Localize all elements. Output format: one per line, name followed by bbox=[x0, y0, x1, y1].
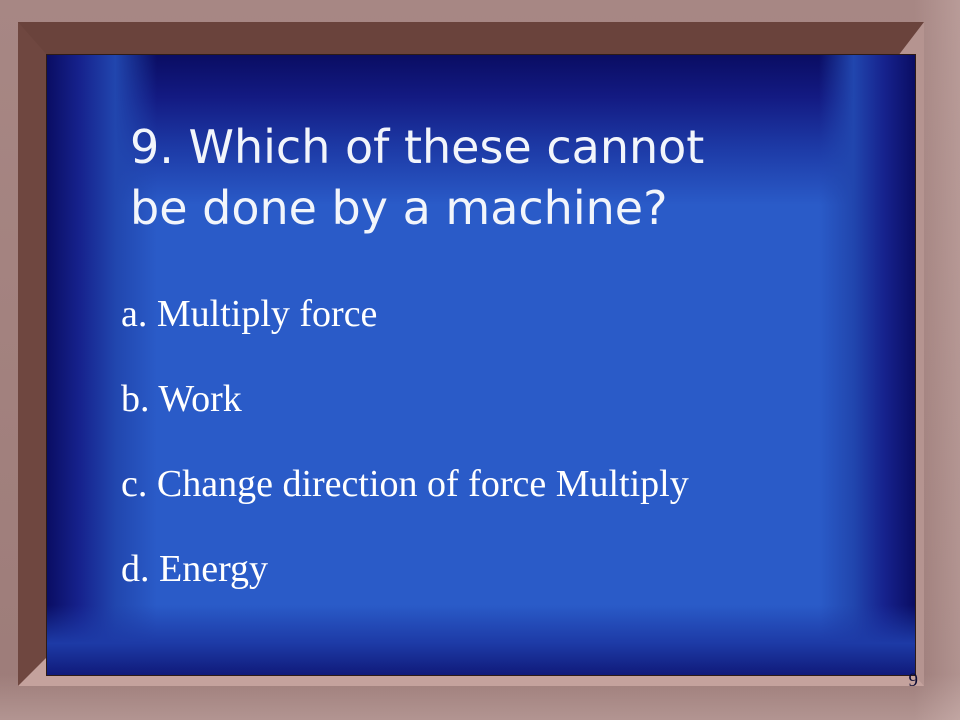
answer-choice-list: a. Multiply force b. Work c. Change dire… bbox=[121, 295, 911, 635]
question-title: 9. Which of these cannot be done by a ma… bbox=[130, 117, 850, 239]
answer-choice-b[interactable]: b. Work bbox=[121, 380, 911, 465]
slide-content-field: 9. Which of these cannot be done by a ma… bbox=[47, 55, 915, 675]
slide-root: 9. Which of these cannot be done by a ma… bbox=[0, 0, 960, 720]
answer-choice-a[interactable]: a. Multiply force bbox=[121, 295, 911, 380]
slide-content: 9. Which of these cannot be done by a ma… bbox=[47, 55, 915, 675]
page-number: 9 bbox=[909, 671, 919, 690]
answer-choice-d[interactable]: d. Energy bbox=[121, 550, 911, 635]
answer-choice-c[interactable]: c. Change direction of force Multiply bbox=[121, 465, 911, 550]
